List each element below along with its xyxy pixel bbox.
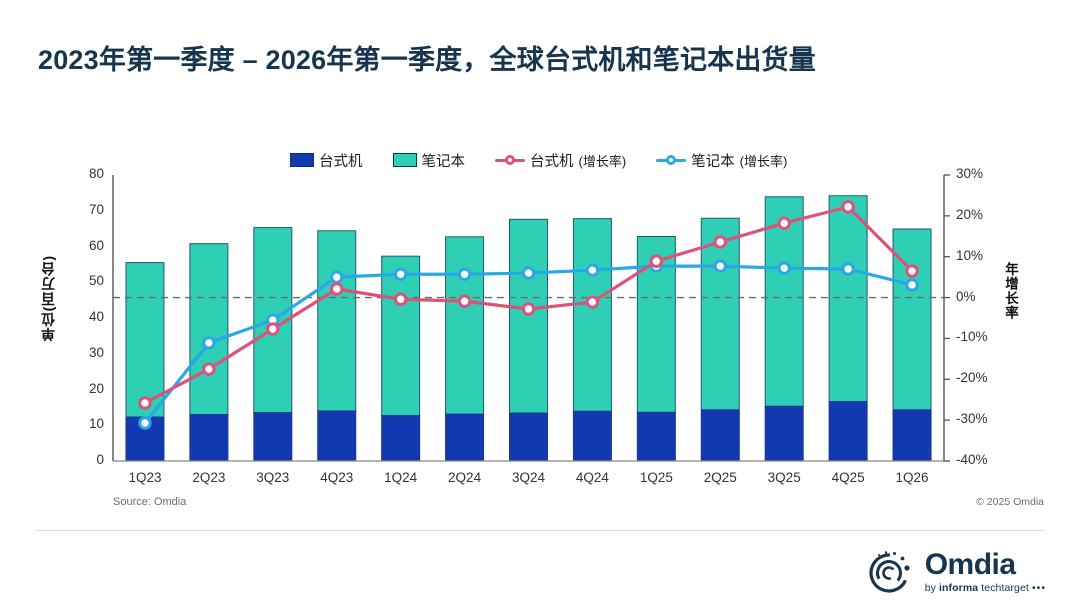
bar-desktop-2Q24	[446, 414, 484, 461]
legend-item-notebook-bar[interactable]: 笔记本	[393, 150, 466, 171]
left-tick-label: 20	[62, 381, 104, 396]
legend-line-desktop-growth	[495, 154, 525, 166]
x-tick-label-2Q23: 2Q23	[174, 470, 244, 485]
right-tick-label: -30%	[956, 411, 1012, 426]
bar-desktop-2Q25	[701, 410, 739, 461]
omdia-tagline-by: by	[925, 582, 939, 594]
marker-notebook-growth-3Q24	[523, 268, 533, 278]
line-desktop-growth	[145, 207, 912, 403]
marker-desktop-growth-2Q25	[715, 237, 725, 247]
right-tick-label: 30%	[956, 166, 1012, 181]
x-tick-label-4Q24: 4Q24	[557, 470, 627, 485]
x-tick-label-2Q24: 2Q24	[430, 470, 500, 485]
legend-item-notebook-growth[interactable]: 笔记本 (增长率)	[656, 150, 787, 171]
bar-desktop-3Q24	[510, 413, 548, 461]
bar-desktop-3Q25	[765, 406, 803, 461]
legend-item-desktop-bar[interactable]: 台式机	[290, 150, 363, 171]
right-tick-label: -20%	[956, 370, 1012, 385]
bar-notebook-4Q24	[573, 219, 611, 412]
bar-desktop-1Q24	[382, 416, 420, 461]
marker-desktop-growth-4Q23	[332, 284, 342, 294]
right-tick-label: 20%	[956, 207, 1012, 222]
x-tick-label-2Q25: 2Q25	[685, 470, 755, 485]
chart-plot-area	[0, 0, 1080, 608]
omdia-mark-icon	[866, 547, 916, 597]
x-tick-label-1Q24: 1Q24	[366, 470, 436, 485]
left-tick-label: 80	[62, 166, 104, 181]
bar-notebook-1Q24	[382, 256, 420, 415]
x-tick-label-3Q25: 3Q25	[749, 470, 819, 485]
line-notebook-growth	[145, 266, 912, 423]
bar-notebook-1Q25	[637, 236, 675, 412]
left-tick-label: 60	[62, 238, 104, 253]
marker-desktop-growth-1Q26	[907, 266, 917, 276]
legend-label-notebook-growth: 笔记本	[691, 150, 735, 171]
marker-notebook-growth-1Q23	[140, 418, 150, 428]
legend-swatch-notebook	[393, 153, 417, 167]
legend-label-notebook-growth-suffix: (增长率)	[740, 151, 788, 170]
bar-desktop-1Q25	[637, 412, 675, 461]
marker-notebook-growth-2Q23	[204, 338, 214, 348]
marker-notebook-growth-2Q25	[715, 261, 725, 271]
footer-divider	[36, 530, 1044, 531]
left-tick-label: 10	[62, 416, 104, 431]
marker-desktop-growth-3Q25	[779, 218, 789, 228]
copyright-note: © 2025 Omdia	[976, 496, 1044, 508]
bar-notebook-4Q23	[318, 231, 356, 411]
marker-desktop-growth-1Q24	[395, 294, 405, 304]
left-tick-label: 50	[62, 273, 104, 288]
omdia-tagline: by informa techtarget •••	[925, 583, 1046, 594]
omdia-tagline-rest: techtarget	[978, 582, 1029, 594]
right-tick-label: 10%	[956, 248, 1012, 263]
bar-desktop-4Q25	[829, 402, 867, 461]
bar-desktop-3Q23	[254, 413, 292, 461]
left-tick-label: 30	[62, 345, 104, 360]
bar-desktop-4Q23	[318, 411, 356, 461]
marker-desktop-growth-3Q24	[523, 304, 533, 314]
marker-notebook-growth-3Q25	[779, 263, 789, 273]
x-tick-label-4Q25: 4Q25	[813, 470, 883, 485]
bar-notebook-2Q24	[446, 237, 484, 414]
legend-label-desktop-growth-suffix: (增长率)	[579, 151, 627, 170]
bar-desktop-4Q24	[573, 411, 611, 461]
omdia-tagline-brand: informa	[939, 582, 978, 594]
legend-item-desktop-growth[interactable]: 台式机 (增长率)	[495, 150, 626, 171]
omdia-tagline-dots: •••	[1032, 582, 1046, 594]
x-tick-label-3Q24: 3Q24	[494, 470, 564, 485]
source-note: Source: Omdia	[113, 496, 186, 508]
bar-notebook-2Q23	[190, 244, 228, 415]
bar-notebook-3Q25	[765, 197, 803, 406]
left-tick-label: 40	[62, 309, 104, 324]
marker-notebook-growth-4Q24	[587, 265, 597, 275]
marker-desktop-growth-4Q25	[843, 202, 853, 212]
chart-legend: 台式机 笔记本 台式机 (增长率) 笔记本 (增长率)	[290, 148, 890, 172]
bar-notebook-3Q23	[254, 228, 292, 413]
bar-notebook-1Q23	[126, 263, 164, 417]
left-tick-label: 70	[62, 202, 104, 217]
marker-notebook-growth-1Q24	[395, 269, 405, 279]
bar-notebook-3Q24	[510, 219, 548, 413]
marker-notebook-growth-3Q23	[268, 315, 278, 325]
x-tick-label-1Q26: 1Q26	[877, 470, 947, 485]
marker-desktop-growth-3Q23	[268, 324, 278, 334]
marker-desktop-growth-1Q25	[651, 256, 661, 266]
right-tick-label: -40%	[956, 452, 1012, 467]
slide-root: 2023年第一季度 – 2026年第一季度，全球台式机和笔记本出货量 台式机 笔…	[0, 0, 1080, 608]
right-tick-label: 0%	[956, 289, 1012, 304]
legend-label-notebook: 笔记本	[422, 150, 466, 171]
left-tick-label: 0	[62, 452, 104, 467]
legend-swatch-desktop	[290, 153, 314, 167]
x-tick-label-4Q23: 4Q23	[302, 470, 372, 485]
x-tick-label-1Q25: 1Q25	[621, 470, 691, 485]
marker-desktop-growth-4Q24	[587, 297, 597, 307]
marker-desktop-growth-2Q23	[204, 364, 214, 374]
marker-desktop-growth-1Q23	[140, 398, 150, 408]
page-title: 2023年第一季度 – 2026年第一季度，全球台式机和笔记本出货量	[38, 38, 1048, 77]
marker-desktop-growth-2Q24	[459, 296, 469, 306]
bar-desktop-2Q23	[190, 415, 228, 461]
bar-notebook-1Q26	[893, 229, 931, 410]
omdia-logo-text: Omdia by informa techtarget •••	[925, 550, 1046, 594]
legend-line-notebook-growth	[656, 154, 686, 166]
legend-label-desktop-growth: 台式机	[530, 150, 574, 171]
right-tick-label: -10%	[956, 329, 1012, 344]
bar-notebook-2Q25	[701, 218, 739, 410]
bar-desktop-1Q23	[126, 417, 164, 461]
marker-notebook-growth-1Q25	[651, 261, 661, 271]
legend-label-desktop: 台式机	[319, 150, 363, 171]
marker-notebook-growth-1Q26	[907, 280, 917, 290]
left-axis-title: 单位(百万台)	[38, 255, 58, 341]
marker-notebook-growth-4Q23	[332, 272, 342, 282]
x-tick-label-3Q23: 3Q23	[238, 470, 308, 485]
omdia-logo: Omdia by informa techtarget •••	[866, 545, 1046, 599]
bar-desktop-1Q26	[893, 410, 931, 461]
bar-notebook-4Q25	[829, 196, 867, 402]
chart-svg	[0, 0, 1080, 608]
omdia-wordmark: Omdia	[925, 550, 1046, 580]
marker-notebook-growth-4Q25	[843, 264, 853, 274]
x-tick-label-1Q23: 1Q23	[110, 470, 180, 485]
marker-notebook-growth-2Q24	[459, 269, 469, 279]
